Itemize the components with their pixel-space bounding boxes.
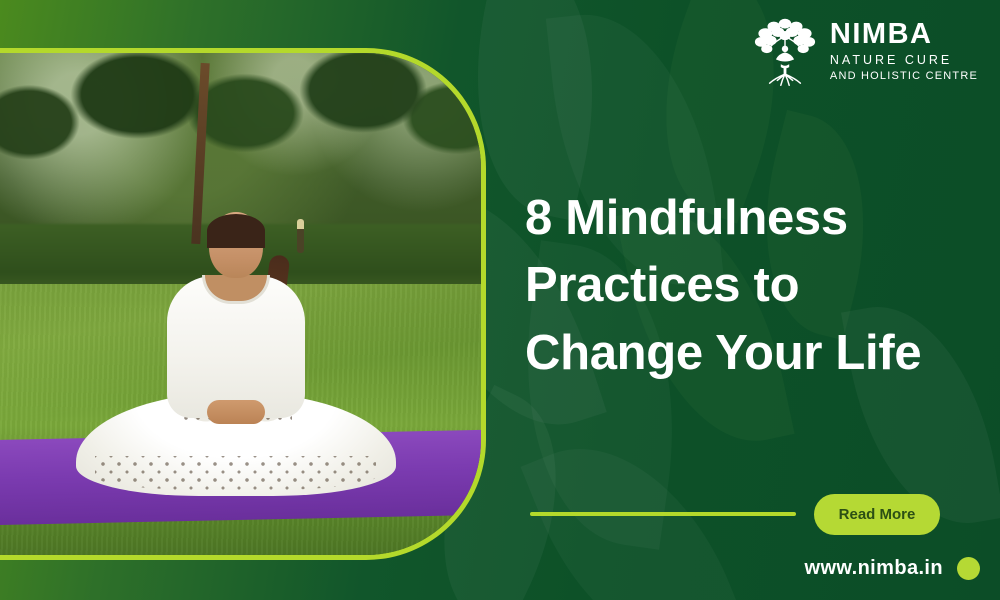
leaf-icon [521,411,750,600]
lime-dot-icon [957,557,980,580]
brand-tagline-1: NATURE CURE [830,54,978,67]
page-title: 8 Mindfulness Practices to Change Your L… [525,185,965,388]
brand-tagline-2: AND HOLISTIC CENTRE [830,71,978,82]
tree-with-meditating-figure-icon [750,12,820,90]
promo-banner: NIMBA NATURE CURE AND HOLISTIC CENTRE 8 … [0,0,1000,600]
website-footer[interactable]: www.nimba.in [804,557,980,580]
accent-divider [530,512,796,516]
brand-logo-text: NIMBA NATURE CURE AND HOLISTIC CENTRE [830,20,978,82]
website-url[interactable]: www.nimba.in [804,557,943,580]
figure-hands [207,400,265,424]
brand-logo[interactable]: NIMBA NATURE CURE AND HOLISTIC CENTRE [750,12,978,90]
read-more-button[interactable]: Read More [814,494,940,535]
brand-name: NIMBA [830,20,978,49]
hero-photo-frame [0,48,486,560]
figure-hair [207,214,265,248]
hero-photo [0,53,481,555]
photo-garden-lamp [297,219,304,253]
